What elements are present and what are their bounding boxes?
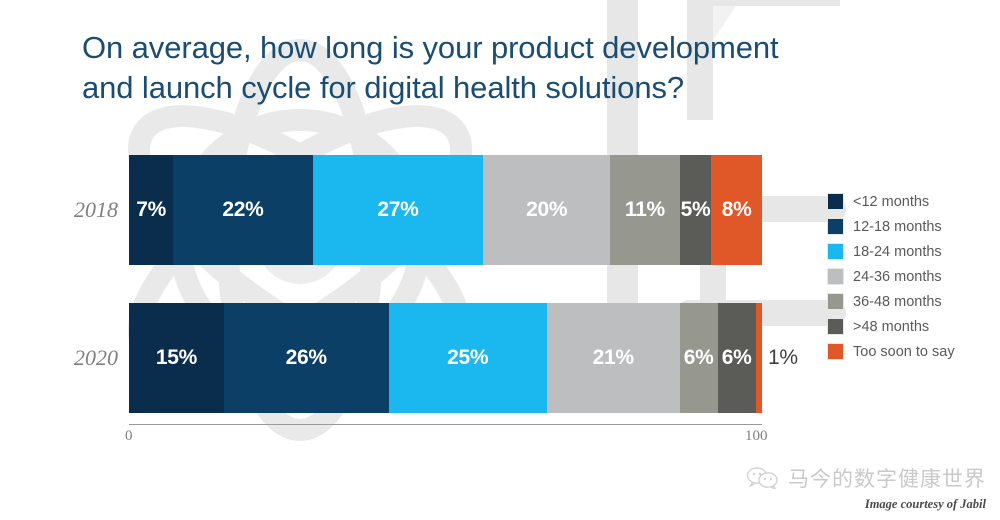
bar-segment-value: 21% xyxy=(593,346,634,370)
legend-label: 36-48 months xyxy=(853,294,942,310)
legend-item[interactable]: Too soon to say xyxy=(827,339,955,364)
bar-segment-value: 26% xyxy=(286,346,327,370)
footer: 马今的数字健康世界 Image courtesy of Jabil xyxy=(746,463,986,512)
legend-label: 12-18 months xyxy=(853,219,942,235)
category-label-2020: 2020 xyxy=(28,345,118,371)
bar-segment-value: 5% xyxy=(681,198,711,222)
x-axis-tick-max: 100 xyxy=(745,428,768,445)
wechat-row: 马今的数字健康世界 xyxy=(746,463,986,493)
x-axis-line xyxy=(129,424,762,425)
bar-segment-value: 15% xyxy=(156,346,197,370)
bar-segment-value: 20% xyxy=(526,198,567,222)
stacked-bar-2020: 15%26%25%21%6%6%1% xyxy=(129,303,762,413)
bar-segment: 20% xyxy=(483,155,610,265)
bar-segment-value: 6% xyxy=(722,346,752,370)
bar-segment-value: 22% xyxy=(222,198,263,222)
legend-label: <12 months xyxy=(853,194,929,210)
legend-swatch xyxy=(827,268,844,285)
legend-label: 24-36 months xyxy=(853,269,942,285)
legend-swatch xyxy=(827,293,844,310)
bar-segment: 8% xyxy=(711,155,762,265)
bar-segment: 21% xyxy=(547,303,680,413)
legend-item[interactable]: 12-18 months xyxy=(827,214,955,239)
bar-segment-value: 27% xyxy=(377,198,418,222)
wechat-icon xyxy=(746,467,780,489)
image-credit: Image courtesy of Jabil xyxy=(746,497,986,512)
legend-label: Too soon to say xyxy=(853,344,955,360)
legend-label: >48 months xyxy=(853,319,929,335)
legend-item[interactable]: 18-24 months xyxy=(827,239,955,264)
chart-title-line-2: and launch cycle for digital health solu… xyxy=(82,68,942,108)
bar-segment-value: 8% xyxy=(722,198,752,222)
legend-item[interactable]: 24-36 months xyxy=(827,264,955,289)
chart-canvas: On average, how long is your product dev… xyxy=(0,0,1000,520)
legend-item[interactable]: <12 months xyxy=(827,189,955,214)
bar-segment-value: 1% xyxy=(768,346,798,370)
bar-segment-value: 11% xyxy=(625,198,665,222)
chart-legend: <12 months12-18 months18-24 months24-36 … xyxy=(827,189,955,364)
legend-swatch xyxy=(827,193,844,210)
x-axis-tick-min: 0 xyxy=(125,428,133,445)
legend-swatch xyxy=(827,343,844,360)
bar-segment-value: 25% xyxy=(447,346,488,370)
category-label-2018: 2018 xyxy=(28,197,118,223)
legend-item[interactable]: 36-48 months xyxy=(827,289,955,314)
bar-segment: 6% xyxy=(718,303,756,413)
bar-segment: 7% xyxy=(129,155,173,265)
bar-segment: 26% xyxy=(224,303,389,413)
chart-title: On average, how long is your product dev… xyxy=(82,28,942,107)
bar-segment: 22% xyxy=(173,155,312,265)
bar-segment: 6% xyxy=(680,303,718,413)
bar-segment: 1% xyxy=(756,303,762,413)
stacked-bar-2018: 7%22%27%20%11%5%8% xyxy=(129,155,762,265)
legend-label: 18-24 months xyxy=(853,244,942,260)
bar-segment: 27% xyxy=(313,155,484,265)
legend-swatch xyxy=(827,218,844,235)
plot-area: 7%22%27%20%11%5%8% 15%26%25%21%6%6%1% xyxy=(129,155,762,413)
bar-segment: 11% xyxy=(610,155,680,265)
bar-segment: 5% xyxy=(680,155,712,265)
legend-swatch xyxy=(827,243,844,260)
bar-segment-value: 6% xyxy=(684,346,714,370)
bar-segment-value: 7% xyxy=(136,198,166,222)
bar-segment: 15% xyxy=(129,303,224,413)
bar-segment: 25% xyxy=(389,303,547,413)
legend-swatch xyxy=(827,318,844,335)
chart-title-line-1: On average, how long is your product dev… xyxy=(82,28,942,68)
wechat-handle: 马今的数字健康世界 xyxy=(788,463,986,493)
legend-item[interactable]: >48 months xyxy=(827,314,955,339)
